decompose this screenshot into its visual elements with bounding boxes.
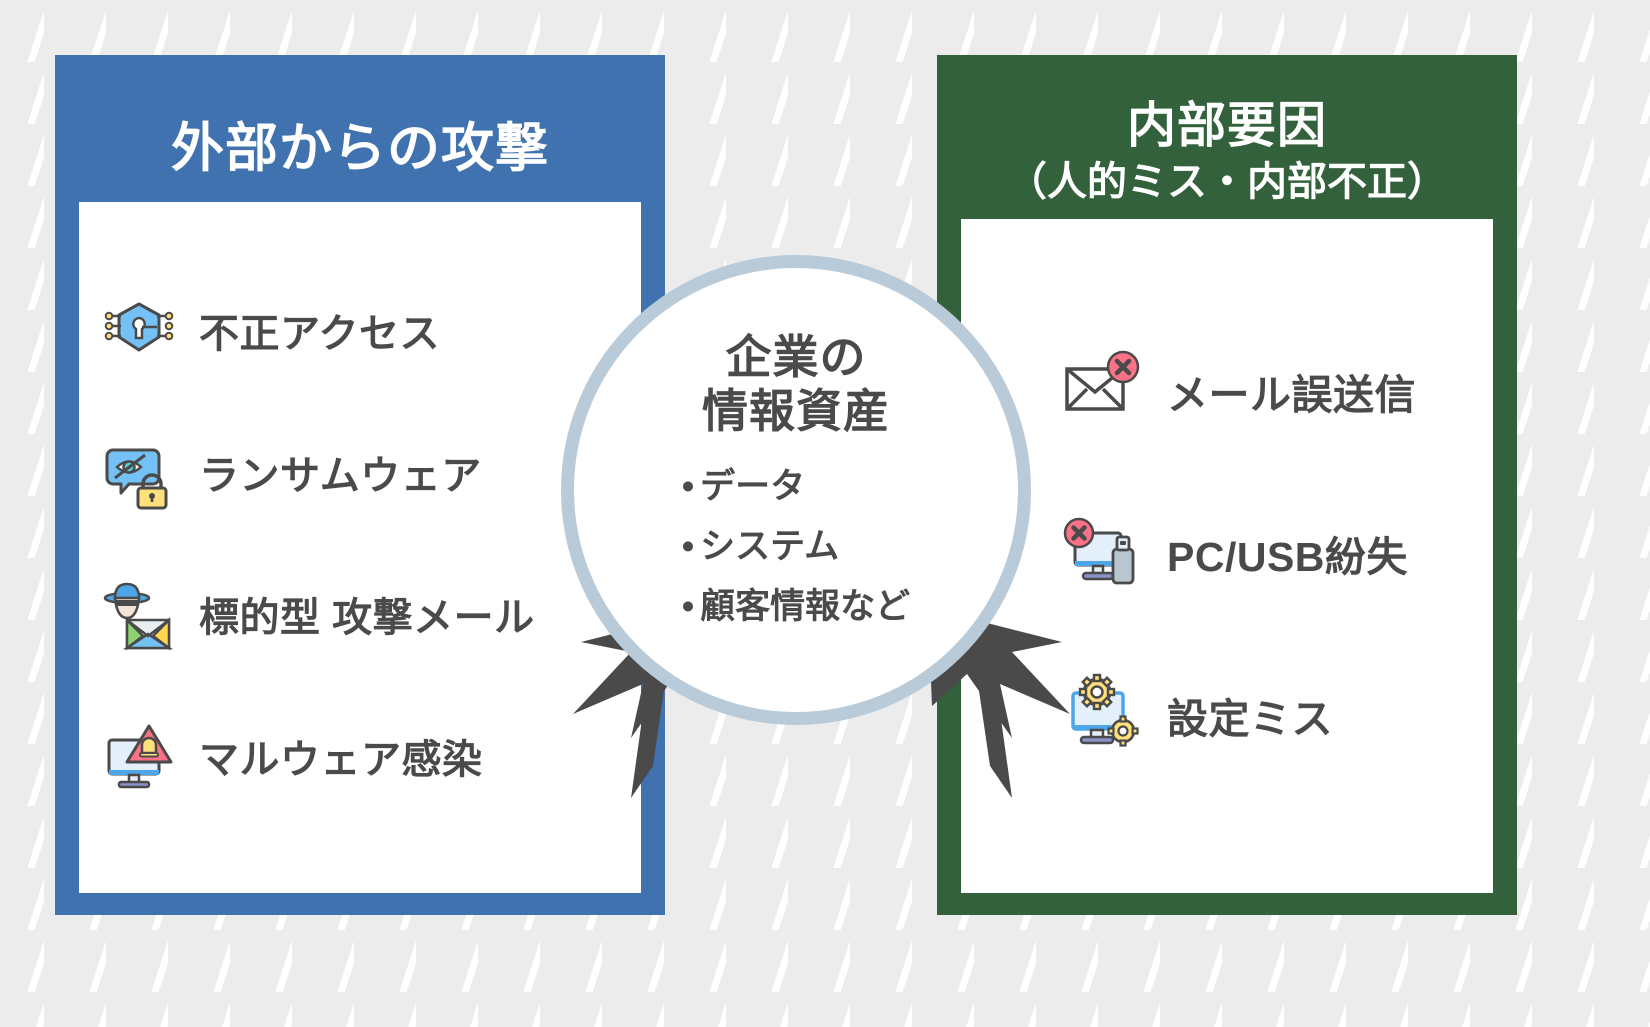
center-title-line1: 企業の: [726, 331, 867, 383]
list-item-label: マルウェア感染: [199, 727, 483, 785]
center-title: 企業の 情報資産: [702, 330, 890, 439]
list-item-label: ランサムウェア: [199, 443, 482, 501]
list-item-unauthorized-access[interactable]: 不正アクセス: [101, 292, 641, 368]
list-item: データ: [682, 457, 910, 517]
list-item-label: メール誤送信: [1167, 361, 1416, 421]
shield-key-network-icon: [101, 292, 177, 368]
hacker-envelope-icon: [101, 576, 177, 652]
center-bullet-list: データ システム 顧客情報など: [682, 457, 910, 638]
monitor-usb-error-icon: [1061, 511, 1145, 595]
envelope-error-icon: [1061, 349, 1145, 433]
list-item: 顧客情報など: [682, 577, 910, 637]
list-item: システム: [682, 517, 910, 577]
external-panel-title: 外部からの攻撃: [55, 55, 665, 178]
center-title-line2: 情報資産: [702, 385, 890, 437]
internal-panel-title: 内部要因 （人的ミス・内部不正）: [937, 55, 1517, 205]
list-item-label: 設定ミス: [1167, 685, 1333, 745]
monitor-alert-icon: [101, 718, 177, 794]
list-item-label: PC/USB紛失: [1167, 523, 1408, 583]
internal-panel-title-main: 内部要因: [1127, 99, 1327, 153]
list-item-label: 不正アクセス: [199, 301, 440, 359]
information-assets-circle: 企業の 情報資産 データ システム 顧客情報など: [561, 255, 1031, 725]
list-item-misconfiguration[interactable]: 設定ミス: [1061, 673, 1493, 757]
list-item-ransomware[interactable]: ランサムウェア: [101, 434, 641, 510]
list-item-label: 標的型 攻撃メール: [199, 585, 535, 643]
list-item-email-misdelivery[interactable]: メール誤送信: [1061, 349, 1493, 433]
list-item-pc-usb-loss[interactable]: PC/USB紛失: [1061, 511, 1493, 595]
internal-panel-subtitle: （人的ミス・内部不正）: [937, 160, 1517, 205]
chat-hidden-eye-lock-icon: [101, 434, 177, 510]
